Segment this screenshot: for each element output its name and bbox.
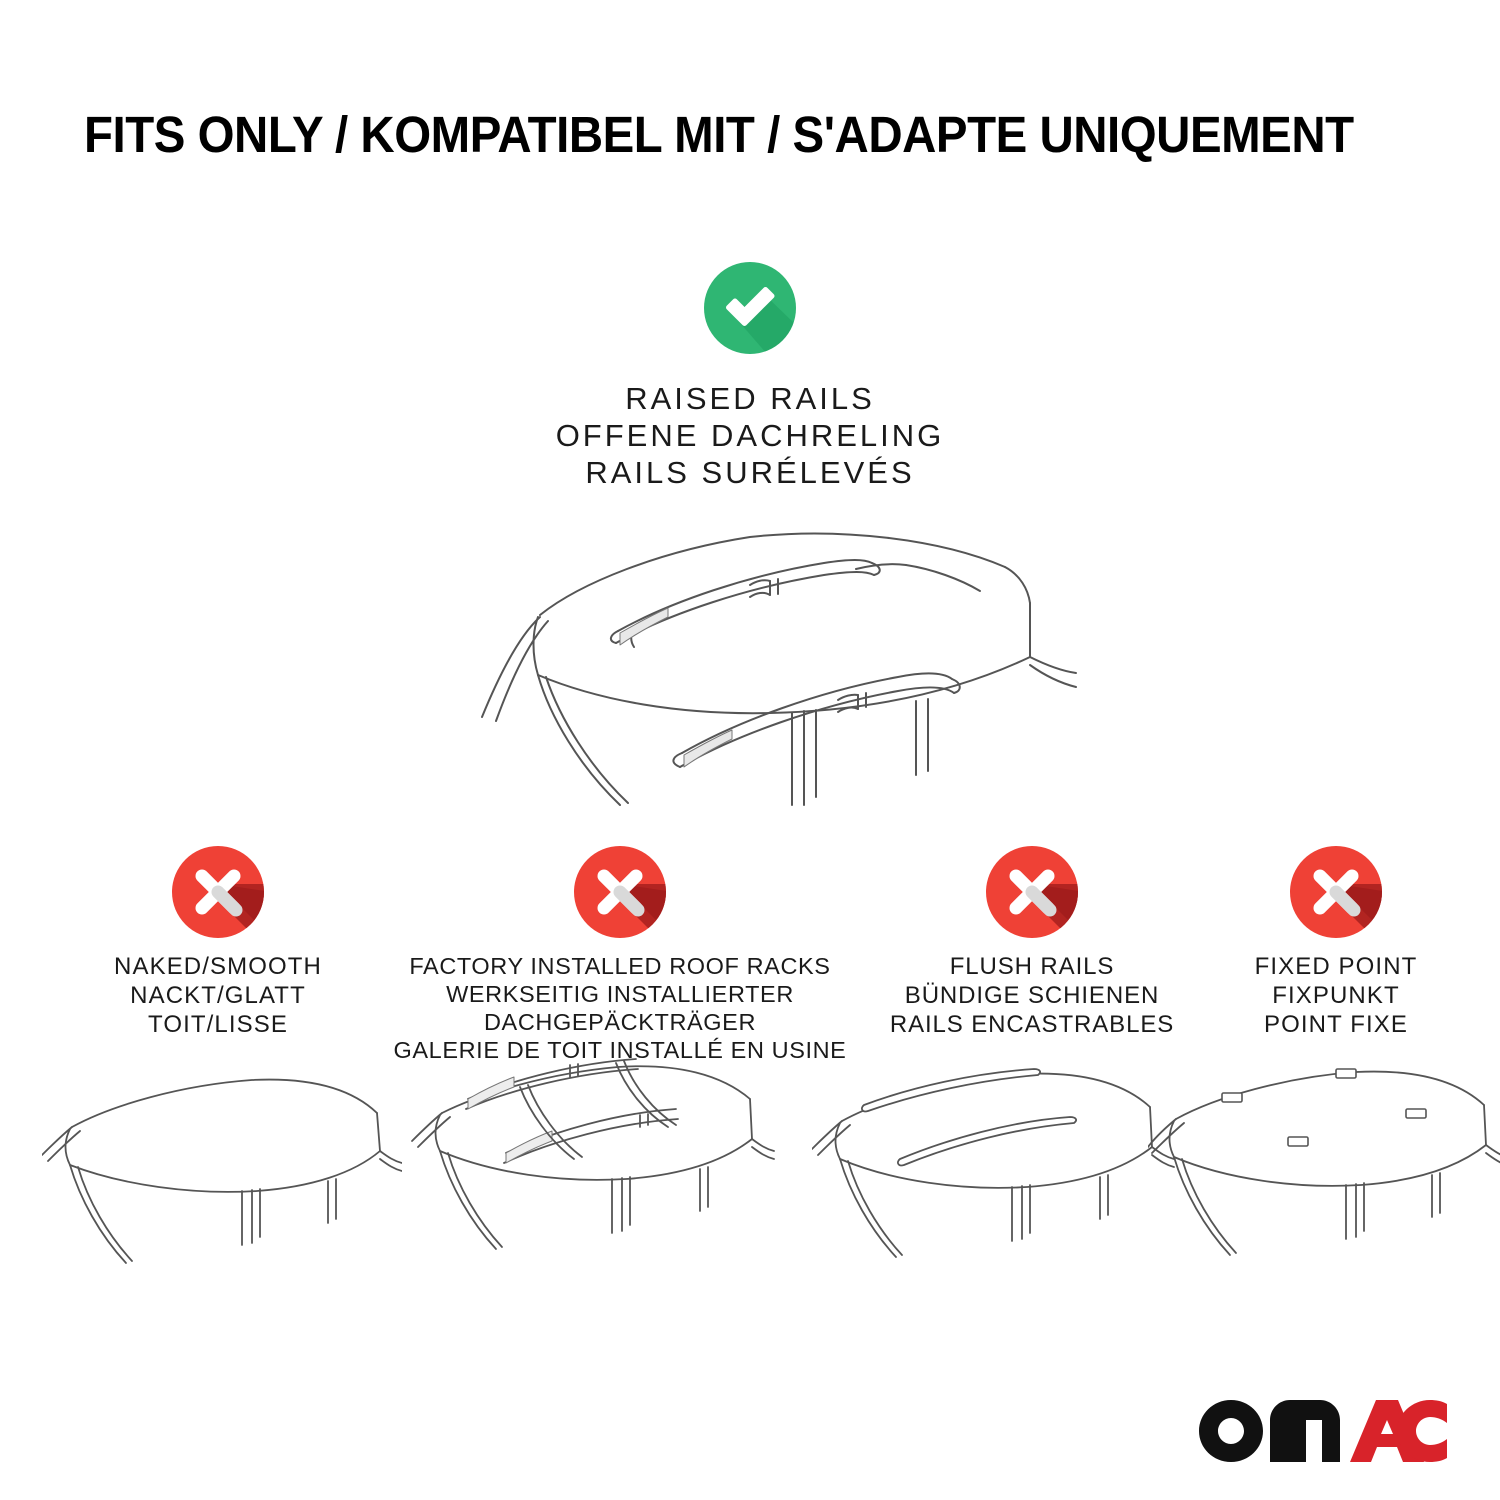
check-circle-icon bbox=[704, 262, 796, 354]
compatible-label-fr: RAILS SURÉLEVÉS bbox=[460, 454, 1040, 491]
incompatible-label-en: FIXED POINT bbox=[1212, 952, 1460, 981]
incompatible-label-de: BÜNDIGE SCHIENEN bbox=[856, 981, 1208, 1010]
incompatible-labels: FIXED POINT FIXPUNKT POINT FIXE bbox=[1212, 952, 1460, 1039]
incompatible-label-en: FACTORY INSTALLED ROOF RACKS bbox=[392, 952, 848, 980]
incompatible-labels: FLUSH RAILS BÜNDIGE SCHIENEN RAILS ENCAS… bbox=[856, 952, 1208, 1039]
car-roof-fixed-point-illustration bbox=[1148, 1055, 1500, 1300]
incompatible-label-fr: POINT FIXE bbox=[1212, 1010, 1460, 1039]
incompatible-item-factory-racks: FACTORY INSTALLED ROOF RACKS WERKSEITIG … bbox=[392, 846, 848, 1064]
car-roof-flush-rails-illustration bbox=[812, 1055, 1184, 1300]
x-circle-icon bbox=[1290, 846, 1382, 938]
compatible-section: RAISED RAILS OFFENE DACHRELING RAILS SUR… bbox=[460, 262, 1040, 491]
incompatible-item-naked-smooth: NAKED/SMOOTH NACKT/GLATT TOIT/LISSE bbox=[48, 846, 388, 1039]
car-roof-naked-smooth-illustration bbox=[42, 1055, 402, 1300]
x-circle-icon bbox=[986, 846, 1078, 938]
incompatible-label-de: NACKT/GLATT bbox=[48, 981, 388, 1010]
x-circle-icon bbox=[574, 846, 666, 938]
incompatible-illustrations bbox=[0, 1055, 1500, 1300]
incompatible-labels: FACTORY INSTALLED ROOF RACKS WERKSEITIG … bbox=[392, 952, 848, 1064]
incompatible-label-fr: TOIT/LISSE bbox=[48, 1010, 388, 1039]
x-circle-icon bbox=[172, 846, 264, 938]
incompatible-label-en: NAKED/SMOOTH bbox=[48, 952, 388, 981]
incompatible-label-fr: RAILS ENCASTRABLES bbox=[856, 1010, 1208, 1039]
page-title: FITS ONLY / KOMPATIBEL MIT / S'ADAPTE UN… bbox=[84, 104, 1330, 166]
compatible-label-de: OFFENE DACHRELING bbox=[460, 417, 1040, 454]
incompatible-item-fixed-point: FIXED POINT FIXPUNKT POINT FIXE bbox=[1212, 846, 1460, 1039]
incompatible-label-de: FIXPUNKT bbox=[1212, 981, 1460, 1010]
compatible-label-en: RAISED RAILS bbox=[460, 380, 1040, 417]
omac-logo bbox=[1198, 1400, 1448, 1462]
incompatible-item-flush-rails: FLUSH RAILS BÜNDIGE SCHIENEN RAILS ENCAS… bbox=[856, 846, 1208, 1039]
car-roof-raised-rails-illustration bbox=[420, 505, 1080, 835]
fitment-infographic: FITS ONLY / KOMPATIBEL MIT / S'ADAPTE UN… bbox=[0, 0, 1500, 1500]
incompatible-label-de-2: DACHGEPÄCKTRÄGER bbox=[392, 1008, 848, 1036]
incompatible-labels: NAKED/SMOOTH NACKT/GLATT TOIT/LISSE bbox=[48, 952, 388, 1039]
compatible-labels: RAISED RAILS OFFENE DACHRELING RAILS SUR… bbox=[460, 380, 1040, 491]
car-roof-factory-racks-illustration bbox=[410, 1055, 782, 1300]
incompatible-label-de-1: WERKSEITIG INSTALLIERTER bbox=[392, 980, 848, 1008]
incompatible-label-en: FLUSH RAILS bbox=[856, 952, 1208, 981]
